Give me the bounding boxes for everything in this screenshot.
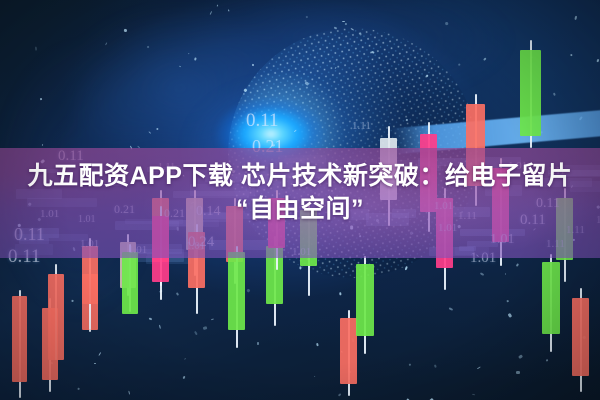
banner-image: 0.110.211.110.111.111.011.111.011.010.21… (0, 0, 600, 400)
vignette-overlay (0, 0, 600, 400)
